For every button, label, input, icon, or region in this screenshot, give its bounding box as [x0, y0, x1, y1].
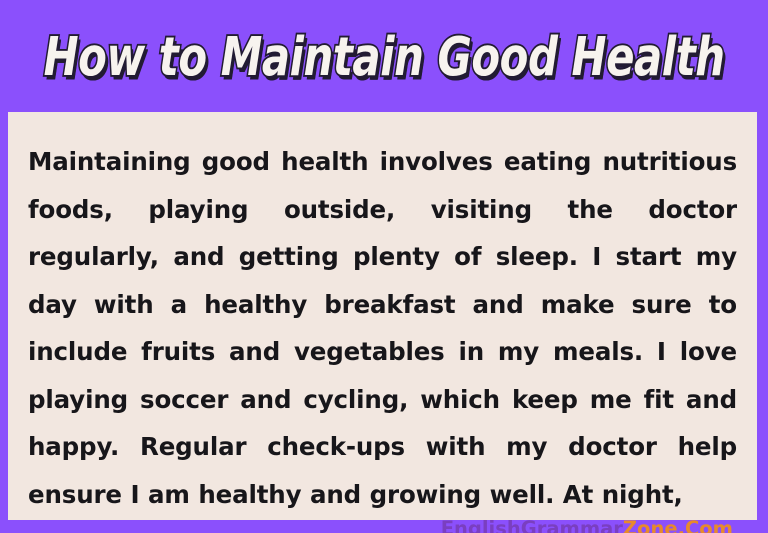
- content-panel: Maintaining good health involves eating …: [8, 112, 757, 520]
- poster-root: How to Maintain Good Health Maintaining …: [0, 0, 768, 533]
- brand-secondary-text: Zone.Com: [623, 517, 733, 533]
- site-brand-link[interactable]: EnglishGrammarZone.Com: [441, 518, 733, 533]
- body-paragraph: Maintaining good health involves eating …: [28, 138, 737, 518]
- brand-primary-text: EnglishGrammar: [441, 517, 623, 533]
- footer-row: EnglishGrammarZone.Com: [28, 518, 737, 533]
- page-title: How to Maintain Good Health: [44, 29, 725, 82]
- title-banner: How to Maintain Good Health: [0, 0, 768, 112]
